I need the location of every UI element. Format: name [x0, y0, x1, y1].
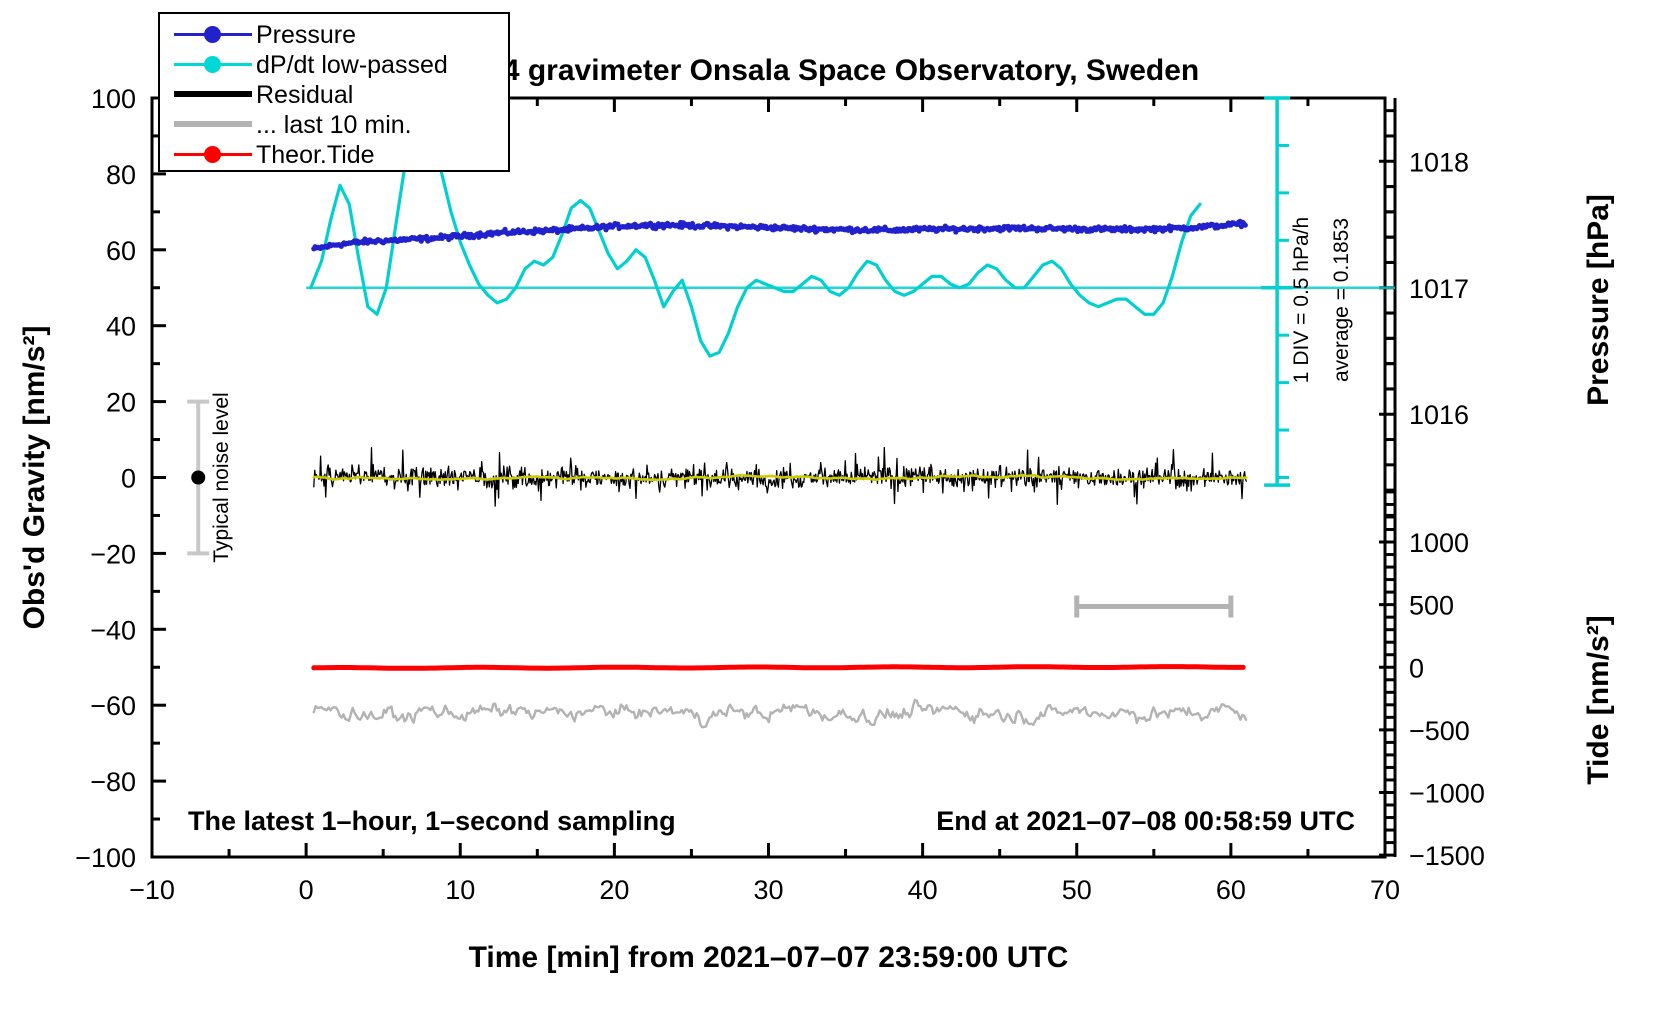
bottom-tick-label: 20 [599, 875, 629, 905]
pressure-tick-label: 1016 [1409, 400, 1469, 430]
left-tick-label: −20 [90, 539, 136, 569]
footer-right-label: End at 2021–07–08 00:58:59 UTC [936, 806, 1355, 836]
legend-line [174, 121, 252, 127]
legend: PressuredP/dt low-passedResidual... last… [158, 12, 510, 172]
legend-marker-dot [204, 146, 221, 163]
legend-label: dP/dt low-passed [256, 51, 448, 80]
legend-label: Pressure [256, 21, 356, 50]
pressure-tick-label: 1018 [1409, 147, 1469, 177]
tide-tick-label: −1500 [1409, 841, 1485, 871]
legend-label: Residual [256, 81, 353, 110]
left-tick-label: 0 [121, 464, 136, 494]
bottom-axis-title: Time [min] from 2021–07–07 23:59:00 UTC [469, 941, 1069, 974]
noise-center-dot [191, 471, 205, 485]
legend-marker-dot [204, 26, 221, 43]
tide-tick-label: 500 [1409, 591, 1454, 621]
theor-tide-trace [314, 667, 1243, 669]
legend-swatch-theor-tide [170, 140, 256, 170]
bottom-tick-label: 30 [753, 875, 783, 905]
legend-label: ... last 10 min. [256, 111, 412, 140]
tide-tick-label: −1000 [1409, 778, 1485, 808]
bottom-tick-label: 50 [1062, 875, 1092, 905]
legend-item: Theor.Tide [170, 140, 498, 170]
left-tick-label: 100 [91, 84, 136, 114]
legend-swatch-residual [170, 80, 256, 110]
legend-line [174, 91, 252, 97]
footer-left-label: The latest 1–hour, 1–second sampling [188, 806, 676, 836]
legend-item: Residual [170, 80, 498, 110]
legend-label: Theor.Tide [256, 141, 375, 170]
pressure-axis-title: Pressure [hPa] [1582, 194, 1615, 406]
bottom-tick-label: 0 [299, 875, 314, 905]
plot-root: 100806040200−20−40−60−80−100Obs'd Gravit… [0, 0, 1660, 1020]
legend-swatch-dp-dt-low-passed [170, 50, 256, 80]
left-tick-label: −80 [90, 767, 136, 797]
bottom-tick-label: 40 [908, 875, 938, 905]
legend-item: dP/dt low-passed [170, 50, 498, 80]
pressure-point [1243, 223, 1248, 228]
pressure-scatter [311, 219, 1248, 252]
pressure-tick-label: 1017 [1409, 274, 1469, 304]
legend-swatch--last-10-min- [170, 110, 256, 140]
bottom-tick-label: 70 [1370, 875, 1400, 905]
dpdt-average-label: average = 0.1853 [1330, 218, 1353, 382]
legend-item: ... last 10 min. [170, 110, 498, 140]
tide-axis-title: Tide [nm/s²] [1582, 615, 1615, 784]
tide-tick-label: 1000 [1409, 528, 1469, 558]
bottom-tick-label: 60 [1216, 875, 1246, 905]
dpdt-scale-label: 1 DIV = 0.5 hPa/h [1290, 217, 1313, 383]
left-tick-label: 80 [106, 160, 136, 190]
left-tick-label: −40 [90, 615, 136, 645]
bottom-tick-label: 10 [445, 875, 475, 905]
legend-swatch-pressure [170, 20, 256, 50]
typical-noise-level-label: Typical noise level [210, 392, 233, 562]
tide-tick-label: 0 [1409, 653, 1424, 683]
left-axis-title: Obs'd Gravity [nm/s²] [18, 326, 51, 630]
left-tick-label: −60 [90, 691, 136, 721]
left-tick-label: −100 [75, 843, 136, 873]
legend-item: Pressure [170, 20, 498, 50]
legend-marker-dot [204, 56, 221, 73]
tide-tick-label: −500 [1409, 716, 1470, 746]
left-tick-label: 40 [106, 312, 136, 342]
left-tick-label: 20 [106, 388, 136, 418]
bottom-tick-label: −10 [129, 875, 175, 905]
left-tick-label: 60 [106, 236, 136, 266]
last10min-trace [314, 700, 1246, 727]
